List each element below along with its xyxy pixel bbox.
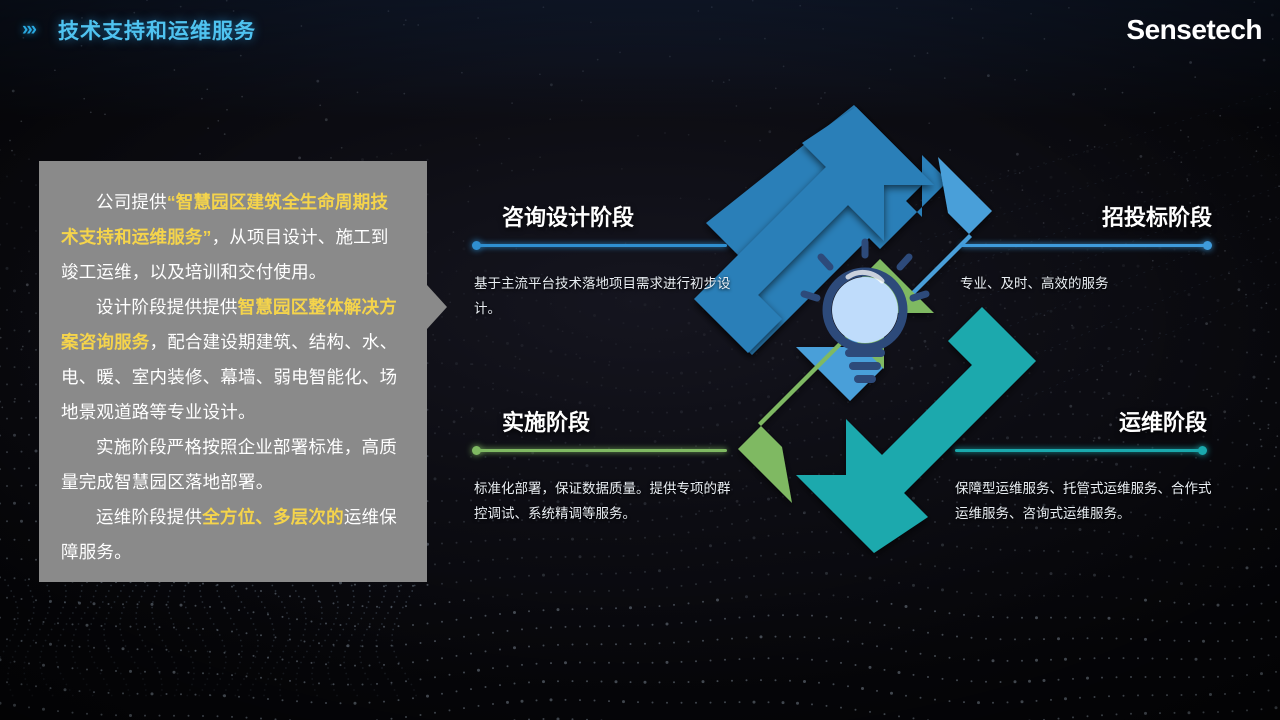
stage-title: 运维阶段 — [955, 405, 1207, 437]
slide-header: ››› 技术支持和运维服务 Sensetech — [0, 0, 1280, 60]
stage-rule — [955, 449, 1207, 452]
stage-description: 专业、及时、高效的服务 — [960, 271, 1220, 296]
stage-rule — [472, 449, 727, 452]
stage-title: 咨询设计阶段 — [502, 200, 742, 232]
brand-logo: Sensetech — [1126, 14, 1262, 46]
description-paragraph: 公司提供“智慧园区建筑全生命周期技术支持和运维服务”，从项目设计、施工到竣工运维… — [61, 185, 405, 290]
slide-canvas: ››› 技术支持和运维服务 Sensetech — [0, 0, 1280, 720]
stage-description: 基于主流平台技术落地项目需求进行初步设计。 — [474, 271, 742, 321]
stage-rule-bar — [478, 449, 727, 452]
description-paragraph: 运维阶段提供全方位、多层次的运维保障服务。 — [61, 500, 405, 570]
description-paragraph: 设计阶段提供提供智慧园区整体解决方案咨询服务，配合建设期建筑、结构、水、电、暖、… — [61, 290, 405, 430]
chevron-right-icon: ››› — [22, 19, 35, 41]
stage-operations-maintenance[interactable]: 运维阶段 保障型运维服务、托管式运维服务、合作式运维服务、咨询式运维服务。 — [955, 405, 1215, 526]
stage-consulting-design[interactable]: 咨询设计阶段 基于主流平台技术落地项目需求进行初步设计。 — [472, 200, 742, 321]
stage-rule — [472, 244, 727, 247]
stage-title: 实施阶段 — [502, 405, 742, 437]
stage-rule — [960, 244, 1212, 247]
stage-bidding[interactable]: 招投标阶段 专业、及时、高效的服务 — [960, 200, 1220, 296]
stage-description: 标准化部署，保证数据质量。提供专项的群控调试、系统精调等服务。 — [474, 476, 742, 526]
highlight-text: 全方位、多层次的 — [202, 507, 344, 527]
stage-rule-bar — [478, 244, 727, 247]
stage-rule-dot — [472, 446, 481, 455]
description-text: 公司提供“智慧园区建筑全生命周期技术支持和运维服务”，从项目设计、施工到竣工运维… — [39, 161, 427, 582]
body-text: 运维阶段提供 — [96, 507, 202, 527]
panel-pointer-arrow — [427, 285, 447, 329]
description-panel: 公司提供“智慧园区建筑全生命周期技术支持和运维服务”，从项目设计、施工到竣工运维… — [39, 161, 427, 582]
description-paragraph: 实施阶段严格按照企业部署标准，高质量完成智慧园区落地部署。 — [61, 430, 405, 500]
stage-title: 招投标阶段 — [960, 200, 1212, 232]
stage-rule-bar — [960, 244, 1206, 247]
stage-rule-dot — [1203, 241, 1212, 250]
page-title: 技术支持和运维服务 — [58, 15, 256, 45]
stage-description: 保障型运维服务、托管式运维服务、合作式运维服务、咨询式运维服务。 — [955, 476, 1215, 526]
stage-rule-bar — [955, 449, 1201, 452]
body-text: 设计阶段提供提供 — [96, 297, 238, 317]
stage-rule-dot — [1198, 446, 1207, 455]
stage-implementation[interactable]: 实施阶段 标准化部署，保证数据质量。提供专项的群控调试、系统精调等服务。 — [472, 405, 742, 526]
stage-rule-dot — [472, 241, 481, 250]
body-text: 实施阶段严格按照企业部署标准，高质量完成智慧园区落地部署。 — [61, 437, 397, 492]
body-text: 公司提供 — [96, 192, 167, 212]
